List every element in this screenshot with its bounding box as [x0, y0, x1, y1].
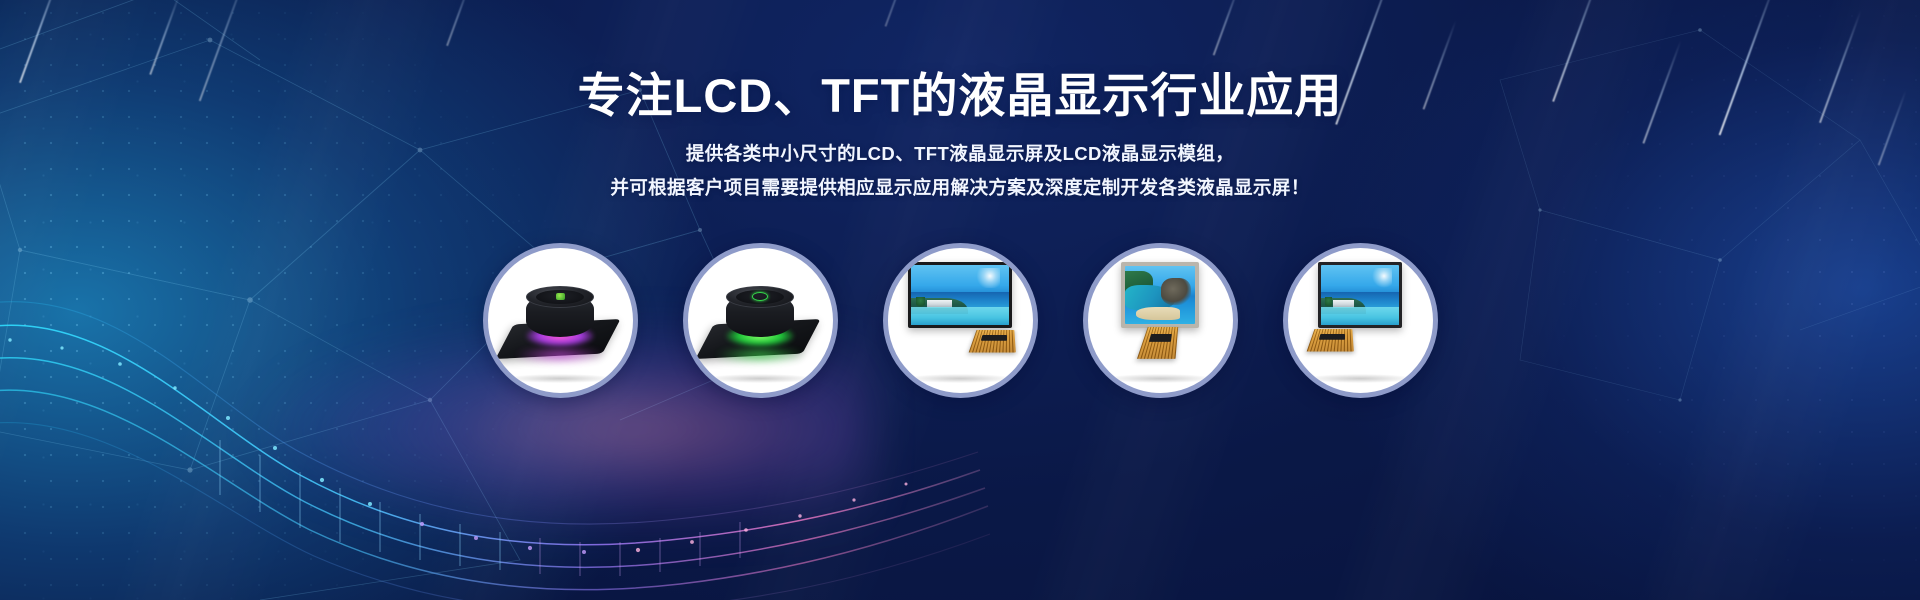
speaker-product-icon: [494, 255, 626, 387]
subtitle-line-2: 并可根据客户项目需要提供相应显示应用解决方案及深度定制开发各类液晶显示屏！: [610, 171, 1309, 205]
product-shadow: [506, 374, 613, 383]
subtitle-line-1: 提供各类中小尺寸的LCD、TFT液晶显示屏及LCD液晶显示模组，: [686, 137, 1234, 171]
product-shadow: [1306, 374, 1413, 383]
page-title: 专注LCD、TFT的液晶显示行业应用: [578, 70, 1343, 123]
product-shadow: [1106, 374, 1213, 383]
product-shadow: [706, 374, 813, 383]
tft-fpc-icon: [1294, 255, 1426, 387]
speaker-product-icon: [694, 255, 826, 387]
product-circle-tft-display-module[interactable]: [1083, 243, 1238, 398]
tft-display-icon: [894, 255, 1026, 387]
product-circle-smart-speaker-purple[interactable]: [483, 243, 638, 398]
hero-banner: 专注LCD、TFT的液晶显示行业应用 提供各类中小尺寸的LCD、TFT液晶显示屏…: [0, 0, 1920, 600]
product-circle-row: [0, 243, 1920, 398]
lcd-module-icon: [1094, 255, 1226, 387]
product-shadow: [906, 374, 1013, 383]
product-circle-tft-display-wide[interactable]: [883, 243, 1038, 398]
product-circle-tft-display-fpc[interactable]: [1283, 243, 1438, 398]
product-circle-smart-speaker-green[interactable]: [683, 243, 838, 398]
